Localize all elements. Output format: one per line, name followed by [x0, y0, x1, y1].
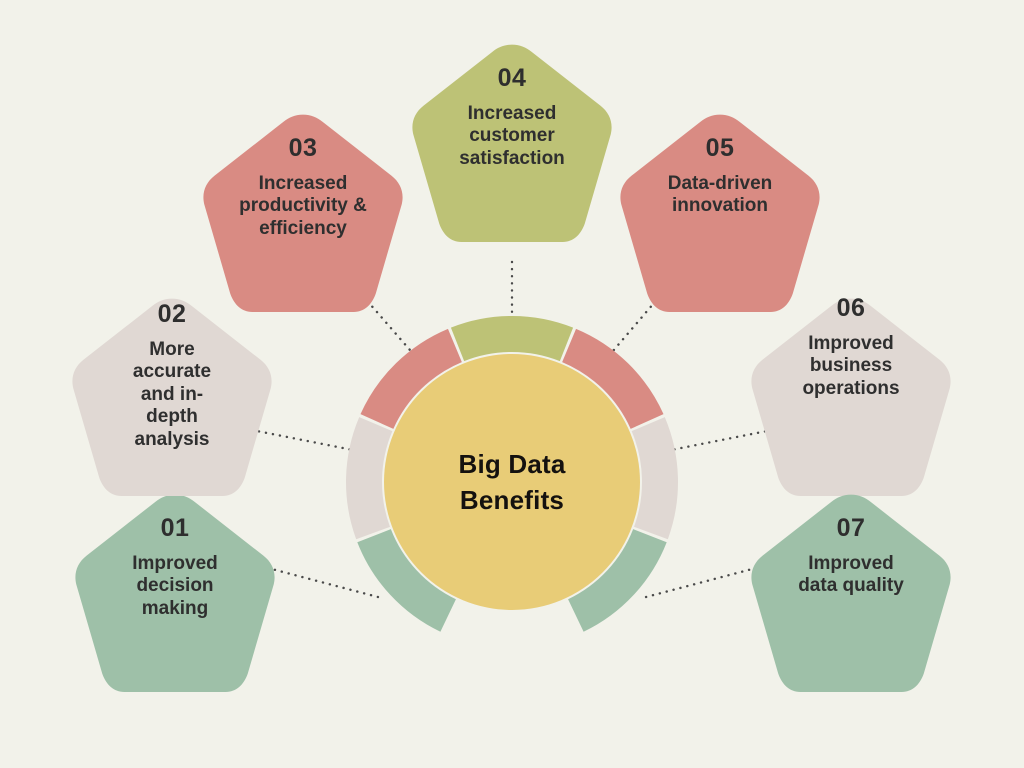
center-title: Big Data Benefits — [384, 432, 640, 532]
node-05-label: Data-driven innovation — [647, 173, 793, 218]
node-01-number: 01 — [161, 516, 190, 541]
node-02-label: More accurate and in-depth analysis — [118, 339, 226, 451]
node-06-label: Improved business operations — [780, 333, 922, 400]
node-06[interactable]: 06 Improved business operations — [773, 296, 929, 400]
center-title-line1: Big Data — [458, 446, 565, 482]
node-04-number: 04 — [498, 66, 527, 91]
node-04-label: Increased customer satisfaction — [448, 103, 576, 170]
node-03[interactable]: 03 Increased productivity & efficiency — [225, 136, 381, 240]
node-02[interactable]: 02 More accurate and in-depth analysis — [94, 302, 250, 451]
center-title-line2: Benefits — [458, 482, 565, 518]
connector-line-02 — [252, 430, 363, 452]
node-03-label: Increased productivity & efficiency — [227, 173, 379, 240]
node-05-number: 05 — [706, 136, 735, 161]
node-02-number: 02 — [158, 302, 187, 327]
node-01-label: Improved decision making — [115, 553, 235, 620]
node-07-number: 07 — [837, 516, 866, 541]
node-07[interactable]: 07 Improved data quality — [773, 516, 929, 598]
connector-line-07 — [646, 568, 756, 597]
infographic-root: 01 Improved decision making 02 More accu… — [0, 0, 1024, 768]
node-01[interactable]: 01 Improved decision making — [97, 516, 253, 620]
connector-line-06 — [661, 430, 772, 452]
node-04[interactable]: 04 Increased customer satisfaction — [434, 66, 590, 170]
connector-line-01 — [268, 568, 378, 597]
node-03-number: 03 — [289, 136, 318, 161]
node-05[interactable]: 05 Data-driven innovation — [642, 136, 798, 218]
node-07-label: Improved data quality — [795, 553, 907, 598]
node-06-number: 06 — [837, 296, 866, 321]
